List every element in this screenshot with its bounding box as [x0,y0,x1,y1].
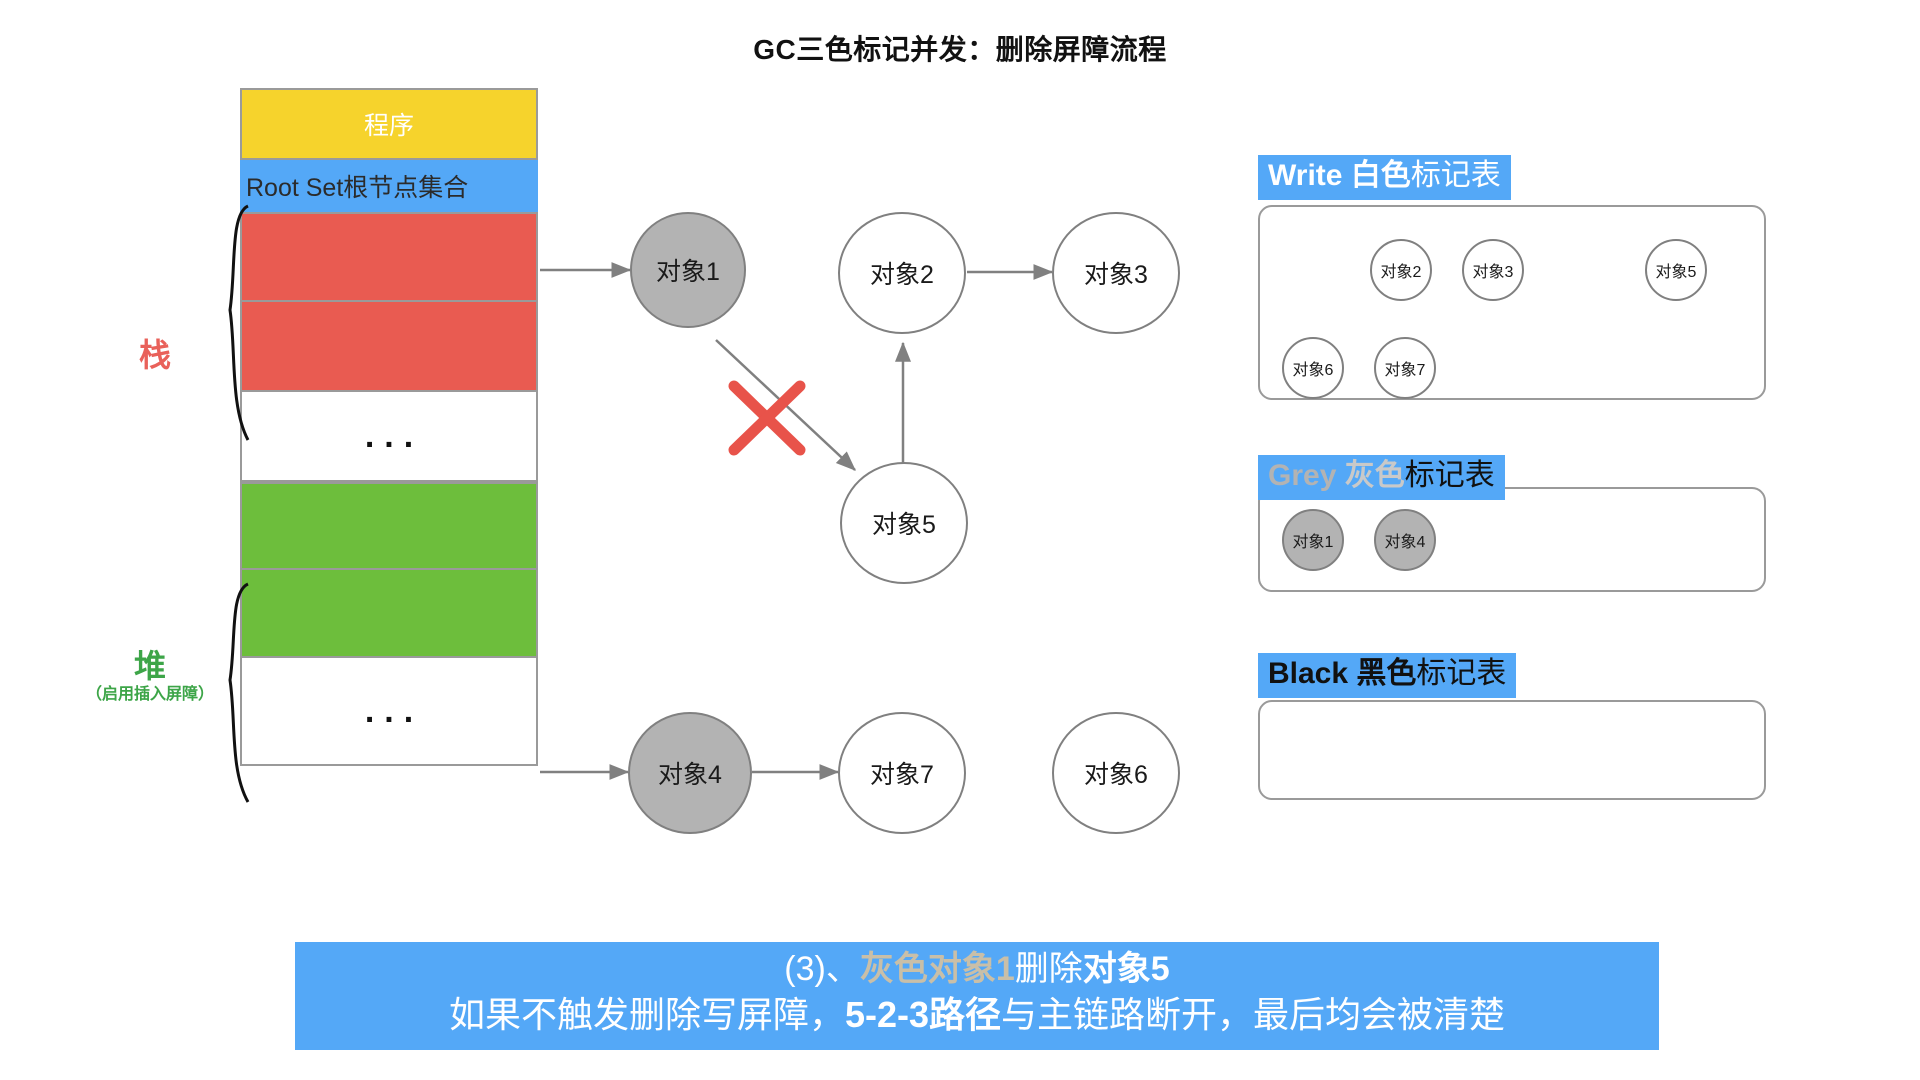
graph-node-obj5[interactable]: 对象5 [840,462,968,584]
caption-path: 5-2-3路径 [845,994,1001,1035]
grey-mark-table-box: 对象1 对象4 [1258,487,1766,592]
white-chip-obj5[interactable]: 对象5 [1645,239,1707,301]
white-mark-table-box: 对象2 对象3 对象5 对象6 对象7 [1258,205,1766,400]
caption-line2-a: 如果不触发删除写屏障， [449,994,845,1035]
caption-target-obj: 对象5 [1083,950,1170,988]
caption-line2-b: 与主链路断开，最后均会被清楚 [1001,994,1505,1035]
grey-chip-obj4[interactable]: 对象4 [1374,509,1436,571]
delete-x-icon [726,378,810,460]
white-chip-obj6[interactable]: 对象6 [1282,337,1344,399]
grey-table-cn: 灰色 [1345,459,1405,492]
grey-chip-obj1[interactable]: 对象1 [1282,509,1344,571]
white-table-cn: 白色 [1351,159,1411,192]
caption-line-1: (3)、灰色对象1删除对象5 [295,948,1659,992]
black-table-tail: 标记表 [1416,657,1506,690]
white-chip-obj7[interactable]: 对象7 [1374,337,1436,399]
white-mark-table-header: Write 白色标记表 [1258,155,1511,200]
white-table-tail: 标记表 [1411,159,1501,192]
white-table-en: Write [1268,159,1342,192]
graph-node-obj3[interactable]: 对象3 [1052,212,1180,334]
caption-banner: (3)、灰色对象1删除对象5 如果不触发删除写屏障，5-2-3路径与主链路断开，… [295,942,1659,1050]
graph-node-obj6[interactable]: 对象6 [1052,712,1180,834]
graph-node-obj4[interactable]: 对象4 [628,712,752,834]
caption-step: (3)、 [784,950,860,988]
graph-node-obj1[interactable]: 对象1 [630,212,746,328]
grey-mark-table-header: Grey 灰色标记表 [1258,455,1505,500]
graph-node-obj7[interactable]: 对象7 [838,712,966,834]
black-mark-table-header: Black 黑色标记表 [1258,653,1516,698]
black-table-cn: 黑色 [1356,657,1416,690]
caption-delete-word: 删除 [1015,950,1083,988]
grey-table-tail: 标记表 [1405,459,1495,492]
caption-grey-obj: 灰色对象1 [860,950,1015,988]
caption-line-2: 如果不触发删除写屏障，5-2-3路径与主链路断开，最后均会被清楚 [295,992,1659,1038]
diagram-canvas: GC三色标记并发：删除屏障流程 程序 Root Set根节点集合 ... ...… [0,0,1920,1080]
grey-table-en: Grey [1268,459,1336,492]
white-chip-obj2[interactable]: 对象2 [1370,239,1432,301]
black-table-en: Black [1268,657,1348,690]
graph-node-obj2[interactable]: 对象2 [838,212,966,334]
black-mark-table-box [1258,700,1766,800]
white-chip-obj3[interactable]: 对象3 [1462,239,1524,301]
